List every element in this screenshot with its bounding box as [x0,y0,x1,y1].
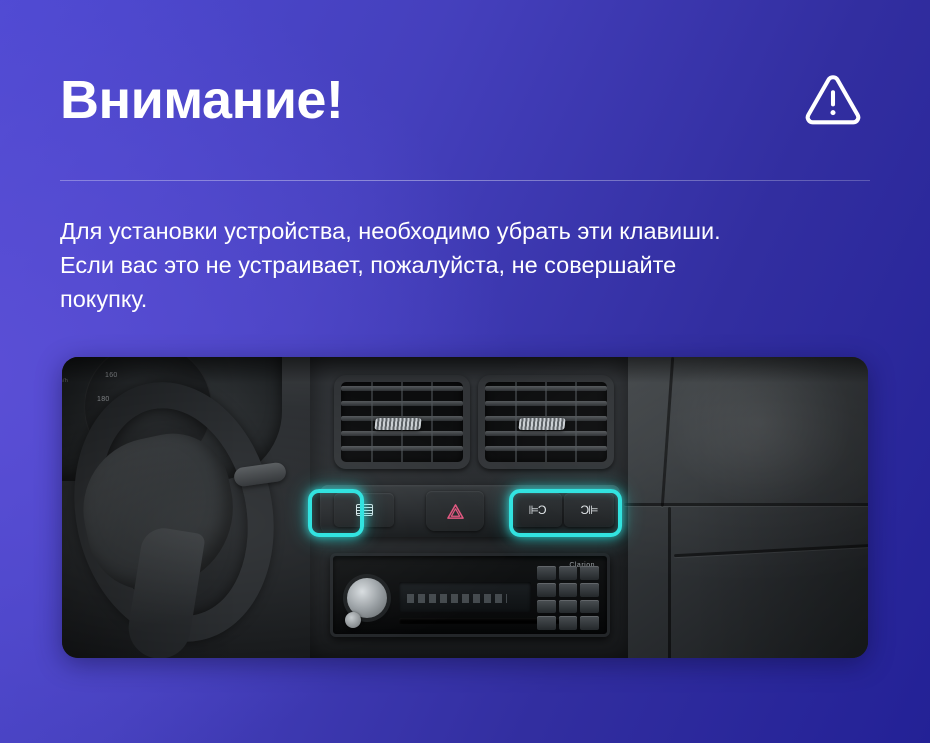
notice-line-2: Если вас это не устраивает, пожалуйста, … [60,248,860,282]
notice-text: Для установки устройства, необходимо убр… [60,214,860,316]
page-title: Внимание! [60,73,343,127]
header: Внимание! [60,52,870,148]
header-divider [60,180,870,181]
dashboard-photo: 140 160 180 200 km/h [62,357,868,658]
warning-notice-banner: Внимание! Для установки устройства, необ… [0,0,930,743]
photo-vignette [62,357,868,658]
warning-triangle-icon [802,69,864,131]
notice-line-1: Для установки устройства, необходимо убр… [60,214,860,248]
notice-line-3: покупку. [60,282,860,316]
